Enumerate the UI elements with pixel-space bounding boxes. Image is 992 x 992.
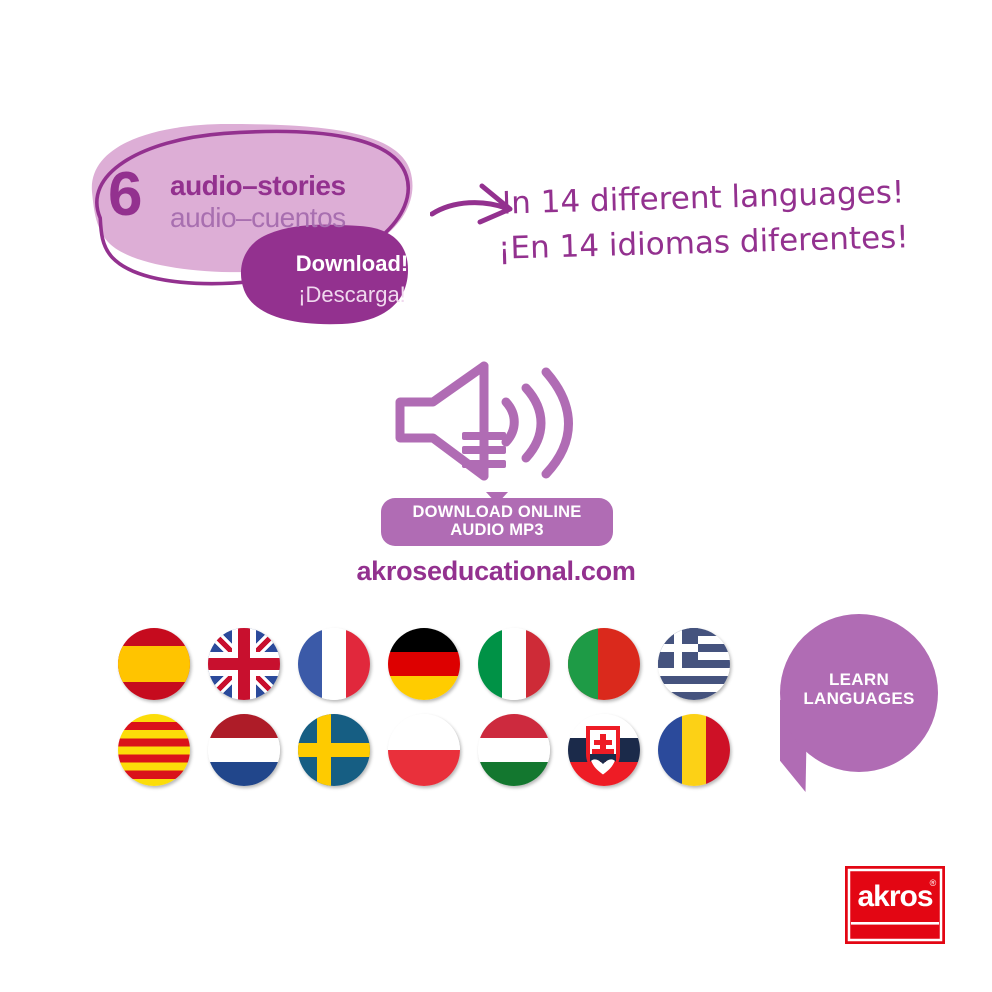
akros-wordmark: akros — [857, 880, 932, 913]
flag-greece — [658, 628, 730, 700]
poster-canvas: 6 audio–stories audio–cuentos Download! … — [0, 0, 992, 992]
banner-line-1: DOWNLOAD ONLINE — [413, 504, 582, 522]
languages-callout: In 14 different languages! ¡En 14 idioma… — [498, 172, 968, 282]
flag-spain — [118, 628, 190, 700]
flag-sweden — [298, 714, 370, 786]
speaker-download-icon — [376, 358, 616, 488]
registered-mark: ® — [930, 878, 937, 888]
callout-line-en: In 14 different languages! — [502, 174, 905, 221]
flag-catalonia — [118, 714, 190, 786]
learn-languages-bubble: LEARN LANGUAGES — [768, 614, 938, 794]
badge-blob-shape — [78, 118, 438, 338]
flag-france — [298, 628, 370, 700]
download-online-banner[interactable]: DOWNLOAD ONLINE AUDIO MP3 — [381, 498, 613, 546]
callout-line-es: ¡En 14 idiomas diferentes! — [498, 219, 910, 266]
banner-line-2: AUDIO MP3 — [450, 522, 543, 540]
flag-row-1 — [118, 628, 758, 700]
website-url[interactable]: akroseducational.com — [0, 556, 992, 587]
flag-united-kingdom — [208, 628, 280, 700]
flag-italy — [478, 628, 550, 700]
flag-romania — [658, 714, 730, 786]
flag-portugal — [568, 628, 640, 700]
flag-netherlands — [208, 714, 280, 786]
flag-poland — [388, 714, 460, 786]
flag-germany — [388, 628, 460, 700]
flags-grid — [118, 628, 758, 800]
bubble-label: LEARN LANGUAGES — [780, 670, 938, 708]
flag-row-2 — [118, 714, 758, 786]
bubble-line-2: LANGUAGES — [780, 689, 938, 708]
akros-logo: akros ® — [845, 866, 945, 944]
flag-hungary — [478, 714, 550, 786]
bubble-line-1: LEARN — [780, 670, 938, 689]
flag-slovakia — [568, 714, 640, 786]
audio-stories-badge: 6 audio–stories audio–cuentos Download! … — [78, 118, 438, 338]
